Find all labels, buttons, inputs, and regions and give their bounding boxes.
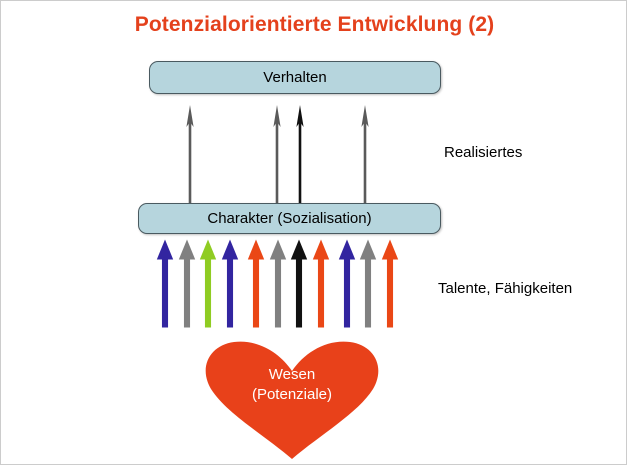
slide-canvas: Potenzialorientierte Entwicklung (2) Ver… <box>0 0 627 465</box>
thin-arrow-up <box>182 105 198 203</box>
thin-arrow-up <box>269 105 285 203</box>
label-realisiertes: Realisiertes <box>444 144 522 161</box>
heart-shape <box>204 339 380 459</box>
thick-arrow-up <box>268 238 288 330</box>
thin-arrow-up <box>292 105 308 203</box>
thick-arrow-up <box>155 238 175 330</box>
thick-arrow-up <box>358 238 378 330</box>
box-charakter-label: Charakter (Sozialisation) <box>207 210 371 227</box>
thin-arrow-up <box>357 105 373 203</box>
box-charakter[interactable]: Charakter (Sozialisation) <box>138 203 441 234</box>
thick-arrow-up <box>220 238 240 330</box>
box-verhalten-label: Verhalten <box>263 69 326 86</box>
box-verhalten[interactable]: Verhalten <box>149 61 441 94</box>
thick-arrow-up <box>246 238 266 330</box>
thick-arrow-up <box>198 238 218 330</box>
heart-icon <box>204 339 380 459</box>
thick-arrow-up <box>289 238 309 330</box>
page-title: Potenzialorientierte Entwicklung (2) <box>1 13 627 37</box>
thick-arrow-up <box>177 238 197 330</box>
thick-arrow-up <box>337 238 357 330</box>
thick-arrow-up <box>380 238 400 330</box>
label-talente: Talente, Fähigkeiten <box>438 280 572 297</box>
thick-arrow-up <box>311 238 331 330</box>
